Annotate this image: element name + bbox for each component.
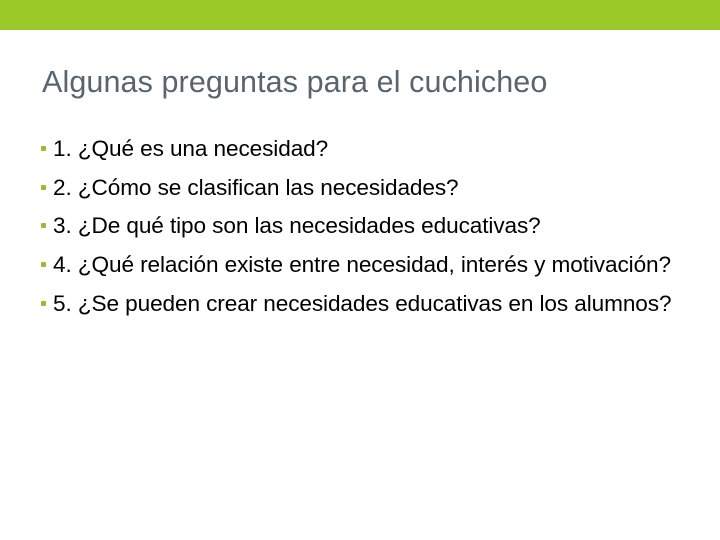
bullet-dot-icon (41, 262, 46, 267)
list-item: 3. ¿De qué tipo son las necesidades educ… (38, 208, 698, 244)
bullet-dot-icon (41, 185, 46, 190)
question-list: 1. ¿Qué es una necesidad? 2. ¿Cómo se cl… (38, 131, 698, 322)
list-item: 2. ¿Cómo se clasifican las necesidades? (38, 170, 698, 206)
bullet-dot-icon (41, 146, 46, 151)
list-item-label: 4. ¿Qué relación existe entre necesidad,… (53, 247, 698, 283)
slide-canvas: Algunas preguntas para el cuchicheo 1. ¿… (0, 0, 720, 540)
list-item-label: 1. ¿Qué es una necesidad? (53, 131, 698, 167)
list-item: 5. ¿Se pueden crear necesidades educativ… (38, 286, 698, 322)
bullet-dot-icon (41, 223, 46, 228)
list-item-label: 5. ¿Se pueden crear necesidades educativ… (53, 286, 698, 322)
top-accent-bar (0, 0, 720, 30)
list-item: 4. ¿Qué relación existe entre necesidad,… (38, 247, 698, 283)
bullet-dot-icon (41, 301, 46, 306)
list-item: 1. ¿Qué es una necesidad? (38, 131, 698, 167)
list-item-label: 2. ¿Cómo se clasifican las necesidades? (53, 170, 698, 206)
page-title: Algunas preguntas para el cuchicheo (42, 64, 692, 100)
list-item-label: 3. ¿De qué tipo son las necesidades educ… (53, 208, 698, 244)
